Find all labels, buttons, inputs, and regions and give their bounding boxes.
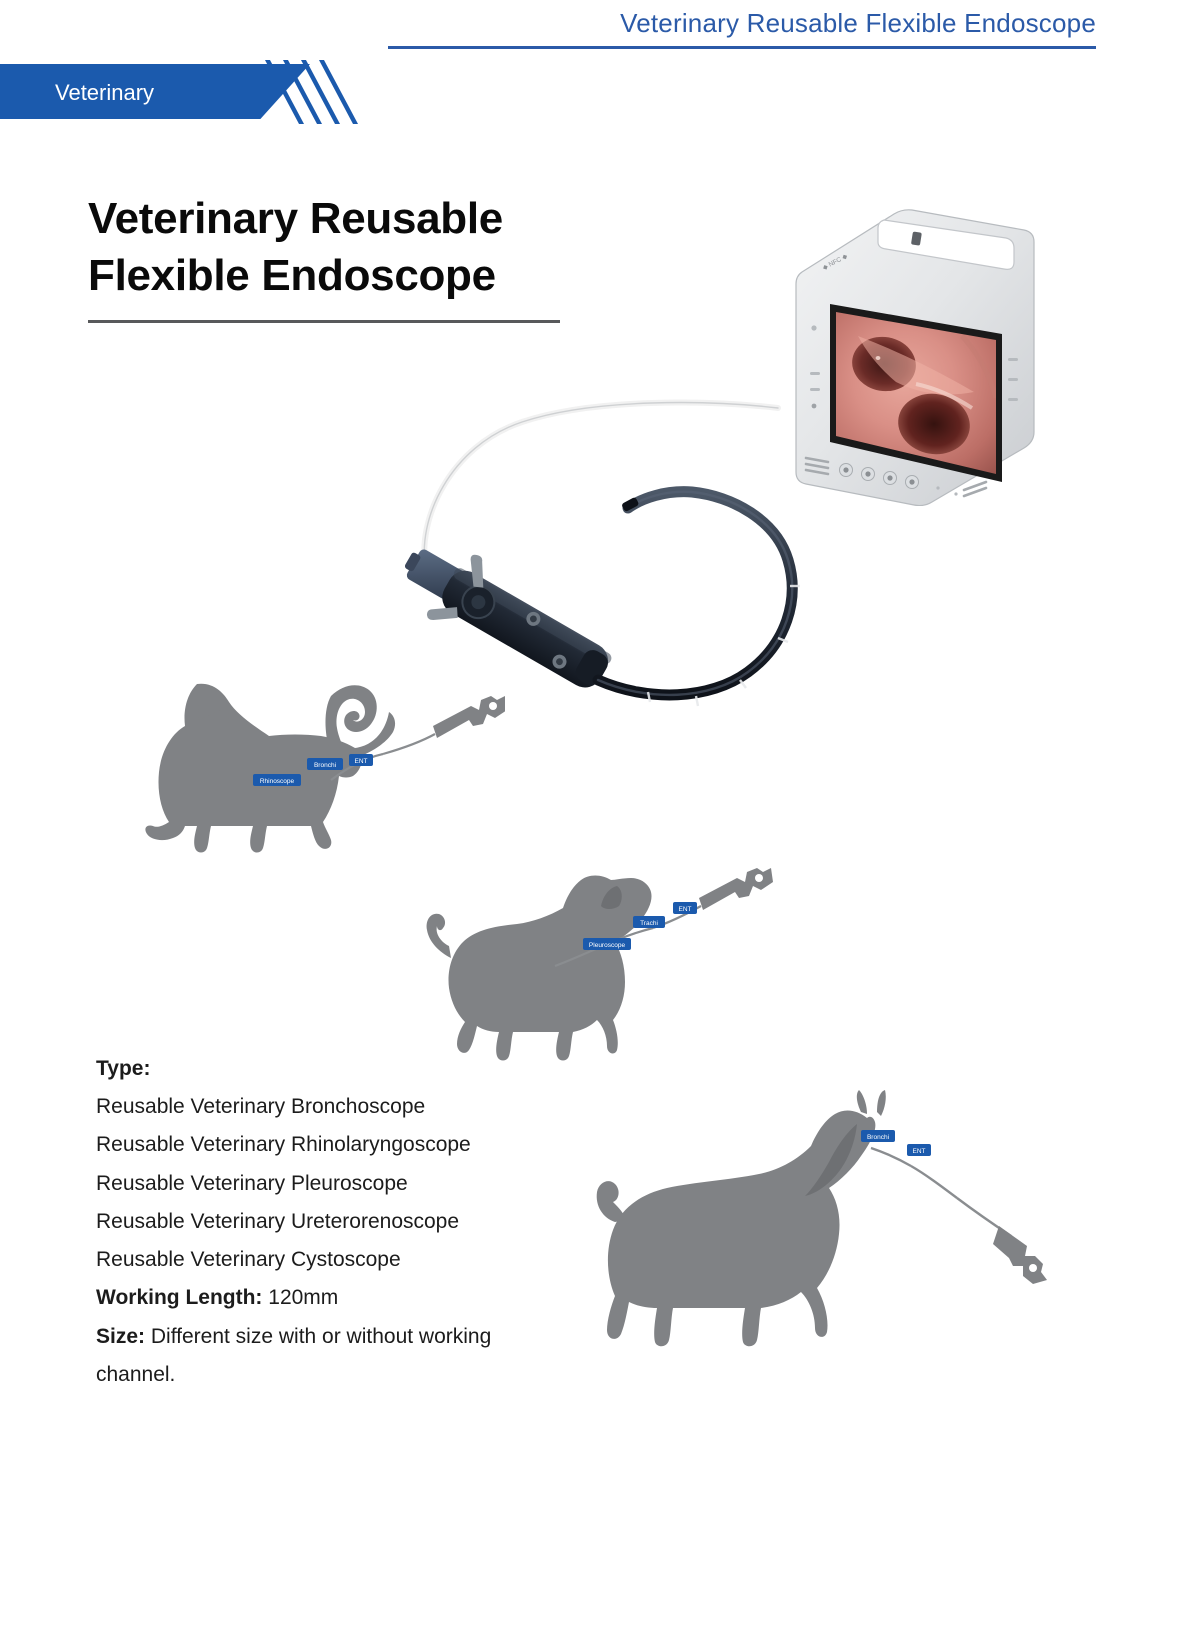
- svg-text:Bronchi: Bronchi: [314, 762, 336, 769]
- svg-text:Bronchi: Bronchi: [867, 1134, 889, 1141]
- svg-text:ENT: ENT: [355, 758, 368, 765]
- horse-tag-group: Bronchi ENT: [861, 1130, 931, 1156]
- svg-text:Rhinoscope: Rhinoscope: [260, 778, 295, 785]
- svg-text:ENT: ENT: [679, 906, 692, 913]
- specifications-block: Type: Reusable Veterinary Bronchoscope R…: [96, 1050, 566, 1394]
- spec-size-row: Size: Different size with or without wor…: [96, 1318, 566, 1394]
- spec-type-heading: Type:: [96, 1050, 566, 1088]
- spec-working-length-row: Working Length: 120mm: [96, 1279, 566, 1317]
- spec-type-item: Reusable Veterinary Ureterorenoscope: [96, 1203, 566, 1241]
- svg-text:Pleuroscope: Pleuroscope: [589, 942, 626, 949]
- cat-silhouette: Rhinoscope Bronchi ENT: [135, 676, 505, 856]
- spec-working-length-value: 120mm: [268, 1286, 338, 1309]
- spec-size-label: Size:: [96, 1325, 145, 1348]
- spec-type-item: Reusable Veterinary Bronchoscope: [96, 1088, 566, 1126]
- flexible-endoscope-handpiece: [380, 380, 900, 710]
- spec-size-value: Different size with or without working c…: [96, 1325, 491, 1386]
- spec-working-length-label: Working Length:: [96, 1286, 262, 1309]
- spec-type-item: Reusable Veterinary Rhinolaryngoscope: [96, 1126, 566, 1164]
- svg-text:ENT: ENT: [913, 1148, 926, 1155]
- svg-text:Trachi: Trachi: [640, 920, 658, 927]
- spec-type-item: Reusable Veterinary Pleuroscope: [96, 1165, 566, 1203]
- dog-silhouette: Pleuroscope Trachi ENT: [425, 860, 825, 1070]
- horse-silhouette: Bronchi ENT: [595, 1090, 1055, 1350]
- spec-type-item: Reusable Veterinary Cystoscope: [96, 1241, 566, 1279]
